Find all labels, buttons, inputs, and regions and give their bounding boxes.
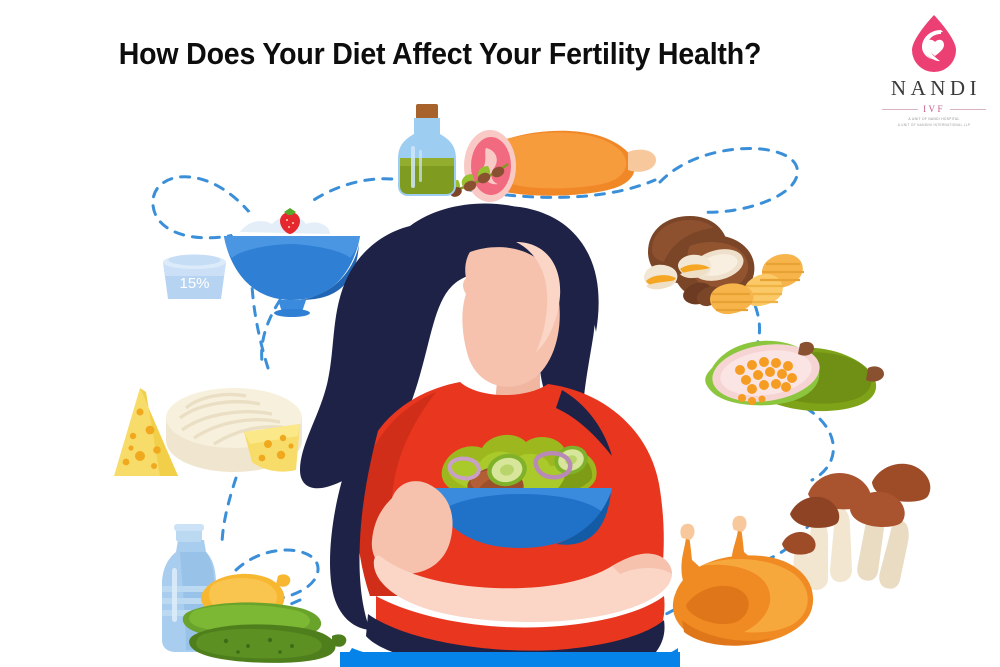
food-olive-oil-bottle-and-ham bbox=[398, 104, 656, 202]
yogurt-cup-badge: 15% bbox=[179, 275, 209, 292]
food-mushrooms bbox=[782, 464, 930, 594]
center-figure-woman bbox=[300, 204, 680, 667]
yogurt-cup-15-percent: 15% bbox=[163, 255, 226, 300]
food-yogurt-bowl-with-strawberry: 15% bbox=[163, 201, 360, 317]
food-papaya-fruit-halved bbox=[705, 338, 884, 411]
olive-oil-bottle-icon bbox=[398, 104, 456, 196]
illustration-scene: 15% bbox=[0, 0, 1000, 667]
cucumber-icon bbox=[183, 602, 347, 663]
food-cheese-wheel-and-wedges bbox=[114, 388, 302, 476]
food-water-bottle-lemon-cucumbers bbox=[162, 524, 346, 663]
food-mixed-nuts bbox=[644, 216, 804, 314]
infographic-canvas: How Does Your Diet Affect Your Fertility… bbox=[0, 0, 1000, 667]
